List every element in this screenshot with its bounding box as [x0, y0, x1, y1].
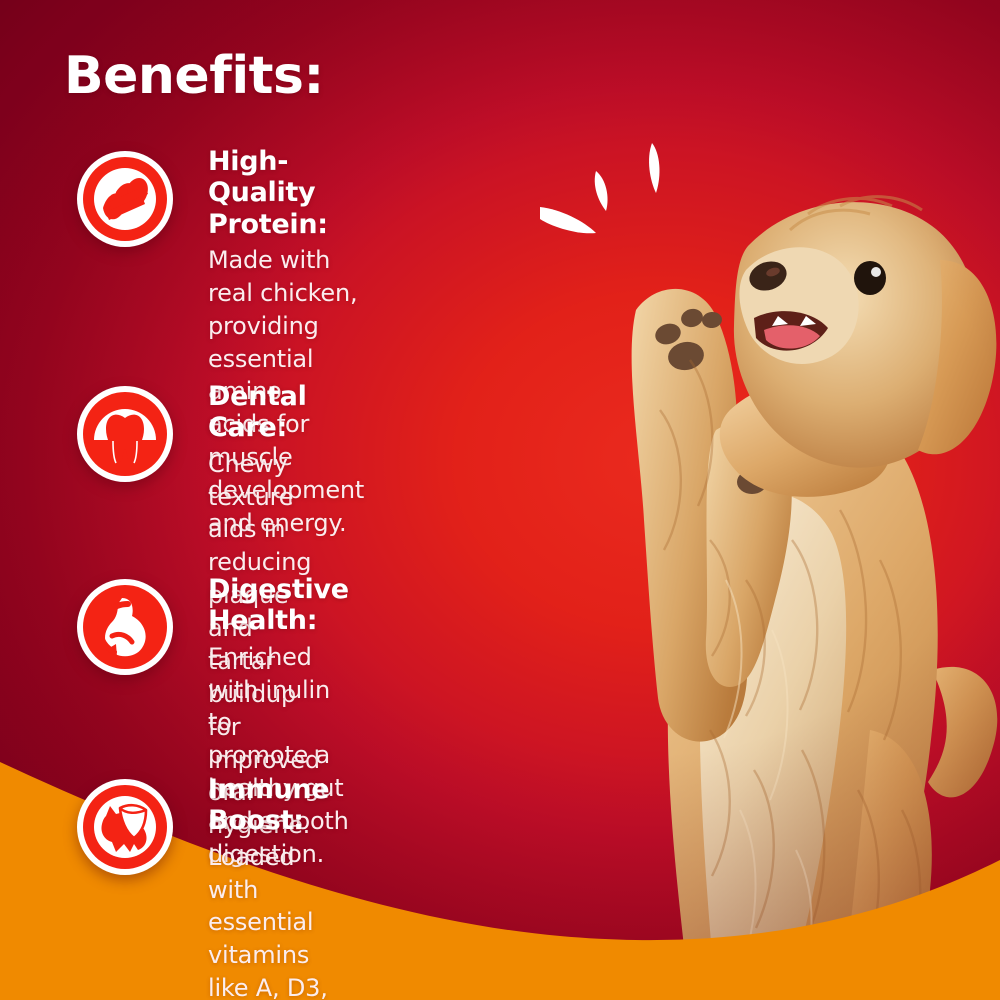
- tooth-icon: [76, 385, 174, 483]
- promo-banner: Benefits: High-Quality Protein: Made wit…: [0, 0, 1000, 1000]
- stomach-digestion-icon: [76, 578, 174, 676]
- benefit-heading: Digestive Health:: [208, 574, 349, 637]
- benefit-heading: Immune Boost:: [208, 774, 329, 837]
- dog-shield-icon: [76, 778, 174, 876]
- benefit-heading: High-Quality Protein:: [208, 146, 364, 240]
- page-title: Benefits:: [64, 50, 324, 102]
- benefit-body: Loaded with essential vitamins like A, D…: [208, 841, 329, 1000]
- protein-helix-icon: [76, 150, 174, 248]
- benefit-heading: Dental Care:: [208, 381, 320, 444]
- excitement-dashes-icon: [540, 135, 710, 265]
